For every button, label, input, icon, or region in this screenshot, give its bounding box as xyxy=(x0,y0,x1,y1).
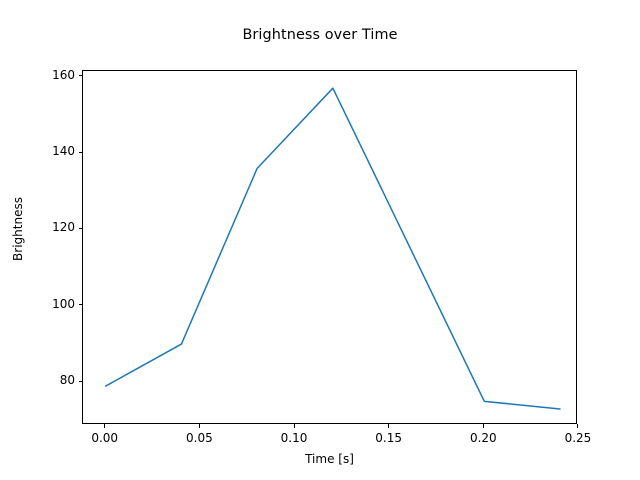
x-axis-tick-label: 0.20 xyxy=(470,431,497,445)
x-axis-tick-mark xyxy=(577,424,578,428)
line-series-svg xyxy=(83,71,578,425)
x-axis-tick-label: 0.10 xyxy=(281,431,308,445)
y-axis-tick-label: 160 xyxy=(52,68,75,82)
y-axis-tick-label: 80 xyxy=(60,373,75,387)
y-axis-tick-label: 140 xyxy=(52,144,75,158)
x-axis-label: Time [s] xyxy=(82,452,577,466)
brightness-line xyxy=(106,88,560,409)
plot-area xyxy=(82,70,577,424)
x-axis-tick-label: 0.15 xyxy=(375,431,402,445)
x-axis-tick-mark xyxy=(388,424,389,428)
x-axis-tick-mark xyxy=(483,424,484,428)
y-axis-tick-label: 120 xyxy=(52,220,75,234)
page-title: Brightness over Time xyxy=(0,27,640,43)
y-axis-label: Brightness xyxy=(11,189,25,269)
x-axis-tick-mark xyxy=(294,424,295,428)
x-axis-tick-mark xyxy=(199,424,200,428)
x-axis-tick-mark xyxy=(104,424,105,428)
x-axis-tick-label: 0.00 xyxy=(91,431,118,445)
x-axis-tick-label: 0.05 xyxy=(186,431,213,445)
x-axis-tick-label: 0.25 xyxy=(565,431,592,445)
y-axis-tick-label: 100 xyxy=(52,297,75,311)
figure-canvas: Brightness over Time 80100120140160 0.00… xyxy=(0,0,640,480)
